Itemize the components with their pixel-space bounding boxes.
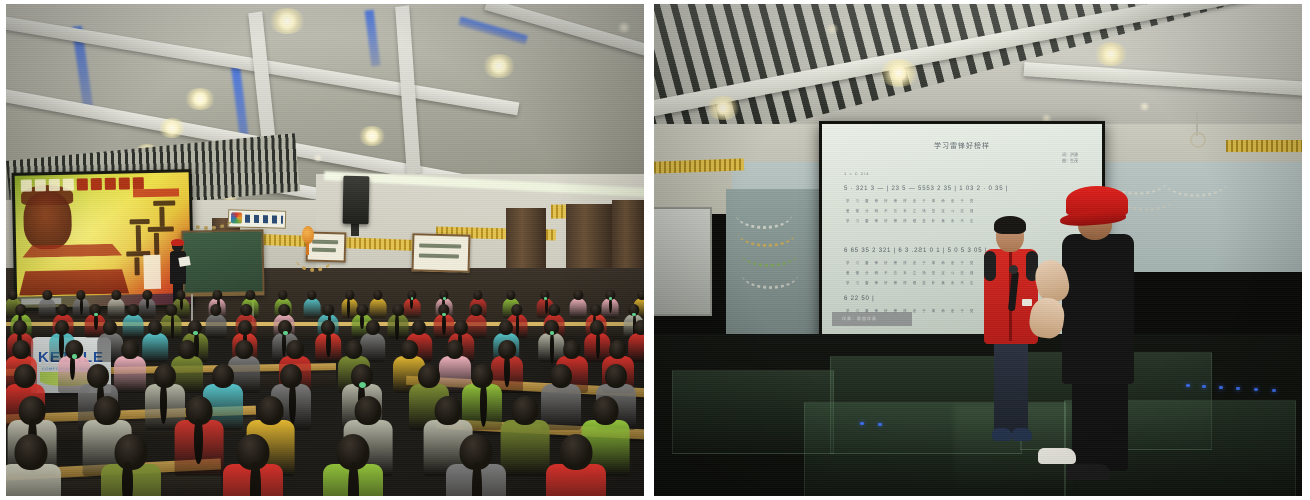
child-ponytail — [80, 298, 83, 315]
audience-child — [6, 434, 61, 496]
singer-shoe — [992, 428, 1012, 441]
poster-white-panel — [143, 255, 161, 289]
stage-led — [1272, 389, 1276, 392]
child-ponytail — [395, 314, 399, 340]
host-jacket — [1062, 234, 1134, 384]
headline-glyph — [63, 179, 74, 191]
audience-child — [175, 396, 224, 481]
child-head — [43, 290, 52, 300]
child-head — [112, 290, 121, 300]
child-ponytail — [194, 419, 203, 464]
hanging-lantern — [302, 226, 314, 244]
child-head — [148, 320, 162, 335]
child-head — [574, 290, 583, 300]
child-head — [286, 340, 304, 359]
gold-mosaic-band — [1226, 140, 1302, 152]
downlight — [358, 126, 386, 146]
headline-glyph — [133, 177, 144, 189]
audience-child — [323, 434, 383, 496]
child-hair-tie — [443, 297, 446, 300]
stage-led — [1254, 388, 1258, 391]
child-head — [246, 290, 255, 300]
child-head — [345, 290, 354, 300]
frame-stroke — [419, 243, 461, 248]
photo-panel-sheet: KETHLE COMFORTABLE SEATING — [0, 0, 1310, 500]
poster-gate-roof — [22, 244, 122, 258]
headline-glyph — [119, 177, 130, 189]
tinsel-garland — [742, 260, 798, 289]
child-head — [412, 320, 426, 335]
child-head — [373, 290, 382, 300]
projected-poster — [15, 172, 192, 308]
child-head — [354, 396, 381, 425]
child-hair-tie — [193, 331, 197, 335]
stage-led — [1202, 385, 1206, 388]
left-photo: KETHLE COMFORTABLE SEATING — [6, 4, 644, 496]
child-head — [511, 396, 538, 425]
stage-led — [878, 423, 882, 426]
stage-led — [1219, 386, 1223, 389]
child-head — [235, 340, 253, 359]
audience-child — [101, 434, 161, 496]
poster-subcaption — [133, 188, 179, 197]
child-head — [418, 364, 440, 388]
child-head — [634, 320, 644, 335]
calligraphy-stroke — [153, 200, 175, 205]
child-head — [592, 396, 619, 425]
audience-child — [570, 290, 587, 319]
audience-child — [446, 434, 506, 496]
child-head — [434, 396, 461, 425]
child-head — [609, 340, 627, 359]
child-head — [366, 320, 380, 335]
child-jacket — [114, 356, 146, 393]
child-head — [605, 364, 627, 388]
frame-stroke — [312, 240, 338, 245]
audience-child — [500, 396, 549, 481]
right-scene: 学习雷锋好榜样 词：洪源 曲：生茂 1 = C 2/4 5 · 321 3 — … — [654, 4, 1302, 496]
child-head — [179, 340, 197, 359]
child-head — [446, 340, 464, 359]
child-head — [14, 434, 47, 470]
child-head — [307, 290, 316, 300]
host-adult — [1054, 186, 1144, 471]
downlight — [268, 8, 306, 34]
singer-trousers — [994, 341, 1028, 433]
audience-child — [114, 340, 146, 396]
presenter-red-cap — [171, 239, 184, 246]
singer-badge — [1022, 299, 1032, 306]
downlight-dim — [1138, 102, 1151, 111]
headline-glyph — [49, 179, 60, 191]
calligraphy-frame-2 — [412, 233, 471, 273]
child-ponytail — [326, 332, 330, 357]
child-head — [212, 364, 234, 388]
poster-portrait — [23, 191, 72, 250]
child-head — [345, 340, 363, 359]
child-jacket — [570, 298, 587, 317]
child-ponytail — [250, 462, 261, 496]
led-cove-strip — [365, 10, 381, 67]
child-ponytail — [122, 462, 133, 496]
calligraphy-stroke — [136, 225, 142, 251]
child-head — [637, 290, 644, 300]
child-head — [400, 340, 418, 359]
side-whiteboard — [654, 207, 712, 316]
headline-glyph — [91, 178, 102, 190]
child-head — [257, 396, 284, 425]
host-shoe-black — [1066, 464, 1110, 480]
wall-speaker — [343, 176, 370, 224]
headline-glyph — [105, 178, 116, 190]
led-cove-strip — [458, 17, 528, 45]
child-ponytail — [480, 383, 487, 427]
tinsel-garland — [296, 246, 332, 272]
audience-child — [205, 304, 226, 340]
child-head — [473, 290, 482, 300]
child-head — [499, 320, 513, 335]
child-head — [14, 364, 36, 388]
downlight — [879, 59, 919, 87]
right-photo: 学习雷锋好榜样 词：洪源 曲：生茂 1 = C 2/4 5 · 321 3 — … — [654, 4, 1302, 496]
audience-child — [223, 434, 283, 496]
calligraphy-stroke — [159, 207, 164, 227]
child-hair-tie — [359, 382, 366, 388]
child-head — [506, 290, 515, 300]
downlight-off — [824, 24, 840, 34]
stage-led — [1236, 387, 1240, 390]
downlight-off — [616, 22, 632, 33]
child-head — [278, 290, 287, 300]
boy-singer — [984, 219, 1038, 449]
child-head — [550, 364, 572, 388]
singer-shoe — [1012, 428, 1032, 441]
singer-shoulder-panel — [984, 251, 996, 281]
speaker-mount — [351, 222, 359, 236]
downlight — [482, 54, 516, 78]
child-hair-tie — [544, 297, 547, 300]
host-shoe-white — [1038, 448, 1076, 464]
calligraphy-stroke — [130, 219, 150, 224]
child-head — [560, 434, 593, 470]
child-head — [563, 340, 581, 359]
child-head — [103, 320, 117, 335]
stage-led — [860, 422, 864, 425]
calligraphy-stroke — [148, 227, 174, 233]
host-trousers — [1072, 376, 1128, 471]
audience-child — [546, 434, 606, 496]
microphone-head — [1009, 265, 1018, 274]
child-head — [122, 340, 140, 359]
child-head — [12, 340, 30, 359]
frame-stroke — [419, 253, 459, 258]
downlight-off — [312, 154, 324, 162]
child-head — [8, 290, 17, 300]
stage-led — [1186, 384, 1190, 387]
child-head — [94, 396, 121, 425]
downlight — [706, 96, 740, 120]
presenter-script — [178, 256, 190, 267]
singer-hair — [994, 216, 1026, 234]
downlight — [158, 118, 186, 138]
headline-glyph — [35, 179, 46, 191]
child-ponytail — [347, 298, 350, 319]
child-jacket — [205, 314, 226, 338]
child-jacket — [500, 420, 549, 476]
audience-child — [123, 304, 144, 340]
downlight — [1094, 42, 1128, 66]
downlight — [184, 88, 216, 110]
headline-glyph — [77, 178, 88, 190]
calligraphy-stroke — [134, 257, 139, 275]
green-chalkboard — [181, 229, 264, 296]
hall-sign-text — [245, 215, 283, 224]
morality-hall-sign — [228, 209, 286, 229]
child-jacket — [123, 314, 144, 338]
calligraphy-stroke — [154, 233, 159, 255]
child-ponytail — [348, 462, 359, 496]
headline-glyph — [21, 179, 32, 191]
left-scene: KETHLE COMFORTABLE SEATING — [6, 4, 644, 496]
ceiling-hook-ring — [1190, 132, 1206, 148]
child-ponytail — [504, 355, 510, 387]
